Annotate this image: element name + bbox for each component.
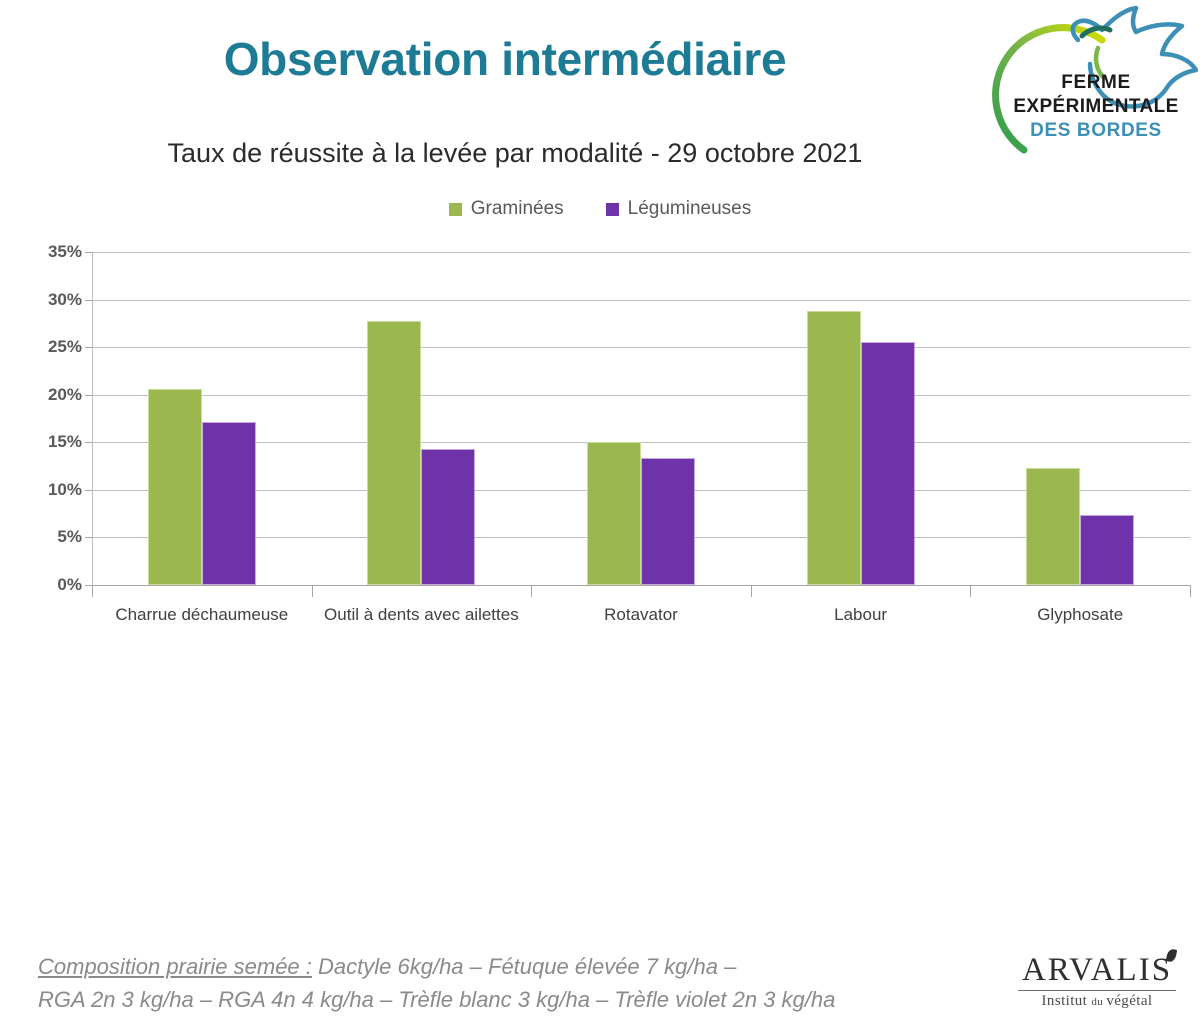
- gridline: [92, 585, 1190, 586]
- x-axis-tick: [92, 585, 93, 597]
- y-axis-tick: [85, 395, 92, 396]
- ferme-logo-line3: DES BORDES: [994, 120, 1198, 142]
- legend-item-legumineuses[interactable]: Légumineuses: [606, 198, 752, 220]
- x-axis-tick: [531, 585, 532, 597]
- x-axis-tick: [312, 585, 313, 597]
- bar-legumineuses[interactable]: [641, 458, 695, 585]
- x-axis-label: Outil à dents avec ailettes: [312, 604, 532, 627]
- y-axis-label: 30%: [22, 290, 82, 310]
- x-axis-label: Charrue déchaumeuse: [92, 604, 312, 627]
- footer-lead: Composition prairie semée :: [38, 954, 312, 979]
- y-axis-tick: [85, 252, 92, 253]
- arvalis-logo: ARVALIS Institut du végétal: [1012, 954, 1182, 1010]
- y-axis-label: 5%: [22, 527, 82, 547]
- plot-area: Charrue déchaumeuseOutil à dents avec ai…: [92, 252, 1190, 585]
- x-axis-label: Labour: [751, 604, 971, 627]
- legend-swatch-graminees: [449, 203, 462, 216]
- bar-graminees[interactable]: [587, 442, 641, 585]
- bar-group: [312, 252, 532, 585]
- ferme-logo-line1: FERME: [994, 72, 1198, 94]
- bar-group: [970, 252, 1190, 585]
- y-axis-tick: [85, 585, 92, 586]
- arvalis-name: ARVALIS: [1012, 954, 1182, 987]
- page-title: Observation intermédiaire: [0, 34, 1010, 85]
- bar-group: [531, 252, 751, 585]
- arvalis-divider: [1018, 990, 1176, 991]
- bar-legumineuses[interactable]: [861, 342, 915, 585]
- legend-item-graminees[interactable]: Graminées: [449, 198, 564, 220]
- bar-group: [751, 252, 971, 585]
- legend-label-legumineuses: Légumineuses: [628, 198, 752, 220]
- footer-note: Composition prairie semée : Dactyle 6kg/…: [38, 950, 998, 1016]
- arvalis-tagline-post: végétal: [1106, 993, 1152, 1009]
- y-axis-label: 25%: [22, 337, 82, 357]
- x-axis-tick: [751, 585, 752, 597]
- y-axis-label: 15%: [22, 432, 82, 452]
- arvalis-tagline-pre: Institut: [1042, 993, 1092, 1009]
- y-axis-tick: [85, 347, 92, 348]
- footer-line1-rest: Dactyle 6kg/ha – Fétuque élevée 7 kg/ha …: [312, 954, 736, 979]
- y-axis-tick: [85, 537, 92, 538]
- bar-graminees[interactable]: [807, 311, 861, 585]
- x-axis-tick: [970, 585, 971, 597]
- y-axis-tick: [85, 300, 92, 301]
- bar-graminees[interactable]: [367, 321, 421, 585]
- bar-chart: Charrue déchaumeuseOutil à dents avec ai…: [0, 240, 1200, 640]
- ferme-experimentale-logo: FERME EXPÉRIMENTALE DES BORDES: [986, 0, 1198, 158]
- y-axis-label: 10%: [22, 480, 82, 500]
- x-axis-label: Glyphosate: [970, 604, 1190, 627]
- bar-legumineuses[interactable]: [1080, 515, 1134, 585]
- bar-graminees[interactable]: [1026, 468, 1080, 585]
- bar-group: [92, 252, 312, 585]
- slide-root: Observation intermédiaire Taux de réussi…: [0, 0, 1200, 1024]
- y-axis-tick: [85, 490, 92, 491]
- ferme-logo-line2: EXPÉRIMENTALE: [994, 96, 1198, 118]
- leaf-icon: [1166, 948, 1178, 963]
- y-axis-tick: [85, 442, 92, 443]
- arvalis-name-text: ARVALIS: [1022, 952, 1172, 988]
- arvalis-tagline-small: du: [1091, 996, 1106, 1008]
- y-axis-label: 20%: [22, 385, 82, 405]
- x-axis-tick: [1190, 585, 1191, 597]
- y-axis-label: 0%: [22, 575, 82, 595]
- legend-label-graminees: Graminées: [471, 198, 564, 220]
- footer-line2: RGA 2n 3 kg/ha – RGA 4n 4 kg/ha – Trèfle…: [38, 987, 835, 1012]
- bar-legumineuses[interactable]: [202, 422, 256, 585]
- chart-legend: Graminées Légumineuses: [0, 198, 1200, 220]
- bar-legumineuses[interactable]: [421, 449, 475, 585]
- y-axis-label: 35%: [22, 242, 82, 262]
- bar-graminees[interactable]: [148, 389, 202, 585]
- x-axis-label: Rotavator: [531, 604, 751, 627]
- chart-subtitle: Taux de réussite à la levée par modalité…: [0, 138, 1030, 169]
- legend-swatch-legumineuses: [606, 203, 619, 216]
- arvalis-tagline: Institut du végétal: [1012, 993, 1182, 1010]
